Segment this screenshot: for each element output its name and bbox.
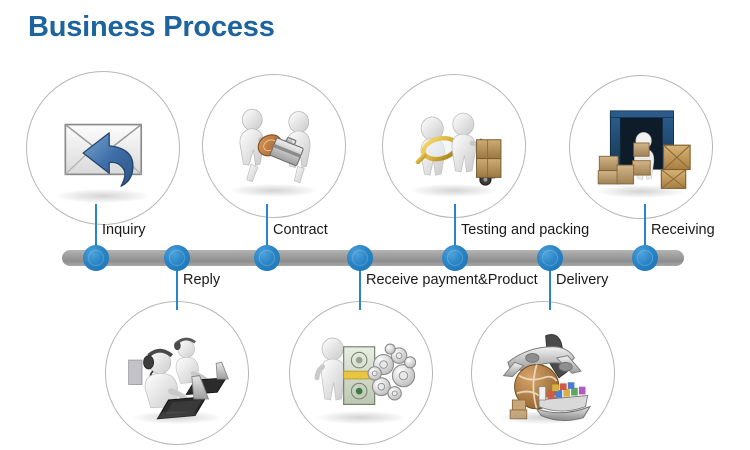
timeline-node-receiving[interactable] xyxy=(632,245,658,271)
timeline-node-contract[interactable] xyxy=(254,245,280,271)
illustration-shadow xyxy=(230,184,318,197)
step-label-contract: Contract xyxy=(273,222,328,238)
timeline-node-inquiry[interactable] xyxy=(83,245,109,271)
page-title: Business Process xyxy=(28,11,275,44)
step-illustration-container-crates xyxy=(569,75,713,219)
timeline-node-testing-and-packing[interactable] xyxy=(442,245,468,271)
illustration-shadow xyxy=(597,185,685,198)
step-illustration-handshake-deal xyxy=(202,74,346,218)
infographic-canvas: Business Process xyxy=(0,0,750,450)
illustration-shadow xyxy=(410,184,498,197)
step-label-inquiry: Inquiry xyxy=(102,222,146,238)
step-illustration-money-gears xyxy=(289,301,433,445)
illustration-shadow xyxy=(499,411,587,424)
illustration-shadow xyxy=(133,411,221,424)
illustration-shadow xyxy=(317,411,405,424)
step-illustration-call-center xyxy=(105,301,249,445)
timeline-node-receive-payment-product[interactable] xyxy=(347,245,373,271)
step-illustration-plane-globe-ship xyxy=(471,301,615,445)
step-label-testing-and-packing: Testing and packing xyxy=(461,222,589,238)
step-label-reply: Reply xyxy=(183,272,220,288)
timeline-node-delivery[interactable] xyxy=(537,245,563,271)
step-label-receiving: Receiving xyxy=(651,222,715,238)
timeline-bar xyxy=(62,250,684,266)
step-illustration-envelope-reply xyxy=(26,71,180,225)
step-label-receive-payment-product: Receive payment&Product xyxy=(366,272,538,288)
step-label-delivery: Delivery xyxy=(556,272,608,288)
step-illustration-inspect-package xyxy=(382,74,526,218)
illustration-shadow xyxy=(56,189,150,203)
timeline-node-reply[interactable] xyxy=(164,245,190,271)
